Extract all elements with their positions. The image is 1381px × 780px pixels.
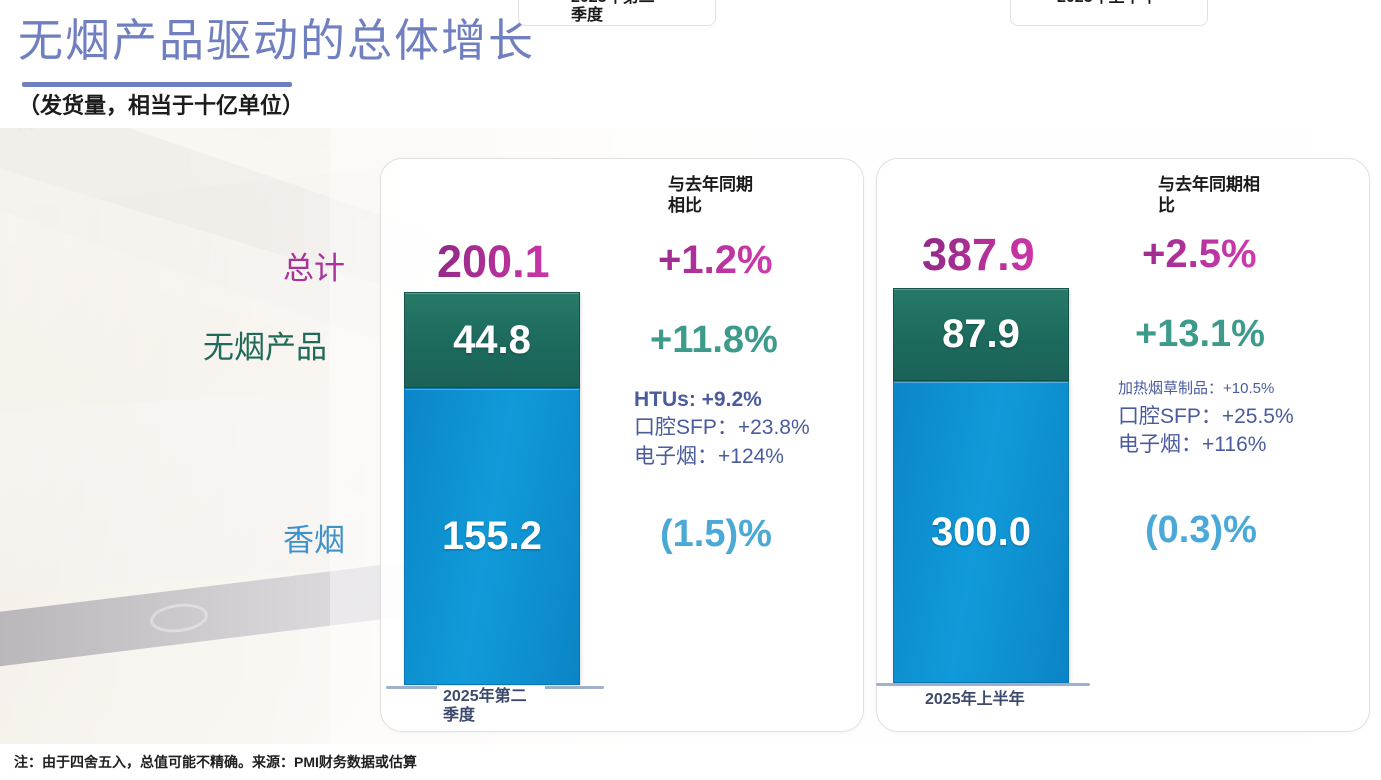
bar-value-cigarettes-h1: 300.0 [931,510,1031,555]
page-subtitle: （发货量，相当于十亿单位） [18,88,304,120]
tab-q2-label: 2025年第二 季度 [571,0,751,26]
total-pct-h1: +2.5% [1142,232,1257,277]
total-value-q2: 200.1 [437,236,550,288]
breakdown-item-e-vapor: 电子烟：+116% [1118,431,1294,459]
smoke-free-pct-h1: +13.1% [1135,313,1265,356]
bar-segment-cigarettes-h1: 300.0 [893,381,1069,683]
breakdown-item-oral-sfp: 口腔SFP：+25.5% [1118,403,1294,431]
footnote: 注：由于四舍五入，总值可能不精确。来源：PMI财务数据或估算 [14,752,417,772]
breakdown-item-oral-sfp: 口腔SFP：+23.8% [634,414,810,442]
breakdown-item-htu: HTUs: +9.2% [634,386,810,414]
stacked-bar-h1: 87.9 300.0 [893,288,1069,683]
bar-segment-smoke-free-h1: 87.9 [893,288,1069,381]
bar-segment-smoke-free-q2: 44.8 [404,292,580,388]
bar-value-smoke-free-q2: 44.8 [453,318,531,363]
tab-q2-2025[interactable]: 2025年第二 季度 [518,0,716,26]
total-value-h1: 387.9 [922,229,1035,281]
breakdown-item-htu: 加热烟草制品：+10.5% [1118,379,1274,399]
page-title: 无烟产品驱动的总体增长 [18,18,535,63]
row-label-total: 总计 [283,243,345,288]
stacked-bar-q2: 44.8 155.2 [404,292,580,685]
tab-h1-label: 2025年上半年 [1057,0,1237,7]
category-label-q2: 2025年第二 季度 [443,687,527,725]
bar-segment-cigarettes-q2: 155.2 [404,388,580,685]
cigarettes-pct-h1: (0.3)% [1145,509,1257,552]
breakdown-list-q2: HTUs: +9.2% 口腔SFP：+23.8% 电子烟：+124% [634,386,810,471]
bar-value-cigarettes-q2: 155.2 [442,514,542,559]
row-label-smoke-free: 无烟产品 [203,322,327,367]
category-label-h1: 2025年上半年 [925,690,1025,709]
total-pct-q2: +1.2% [658,238,773,283]
smoke-free-pct-q2: +11.8% [650,319,778,362]
tab-h1-2025[interactable]: 2025年上半年 [1010,0,1208,26]
title-underline [22,82,292,87]
row-label-cigarettes: 香烟 [283,515,345,560]
bar-value-smoke-free-h1: 87.9 [942,312,1020,357]
yoy-header-h1: 与去年同期相 比 [1158,174,1294,217]
breakdown-list-h1: 加热烟草制品：+10.5% 口腔SFP：+25.5% 电子烟：+116% [1118,403,1294,460]
yoy-header-q2: 与去年同期 相比 [668,174,798,217]
breakdown-item-e-vapor: 电子烟：+124% [634,443,810,471]
cigarettes-pct-q2: (1.5)% [660,513,772,556]
